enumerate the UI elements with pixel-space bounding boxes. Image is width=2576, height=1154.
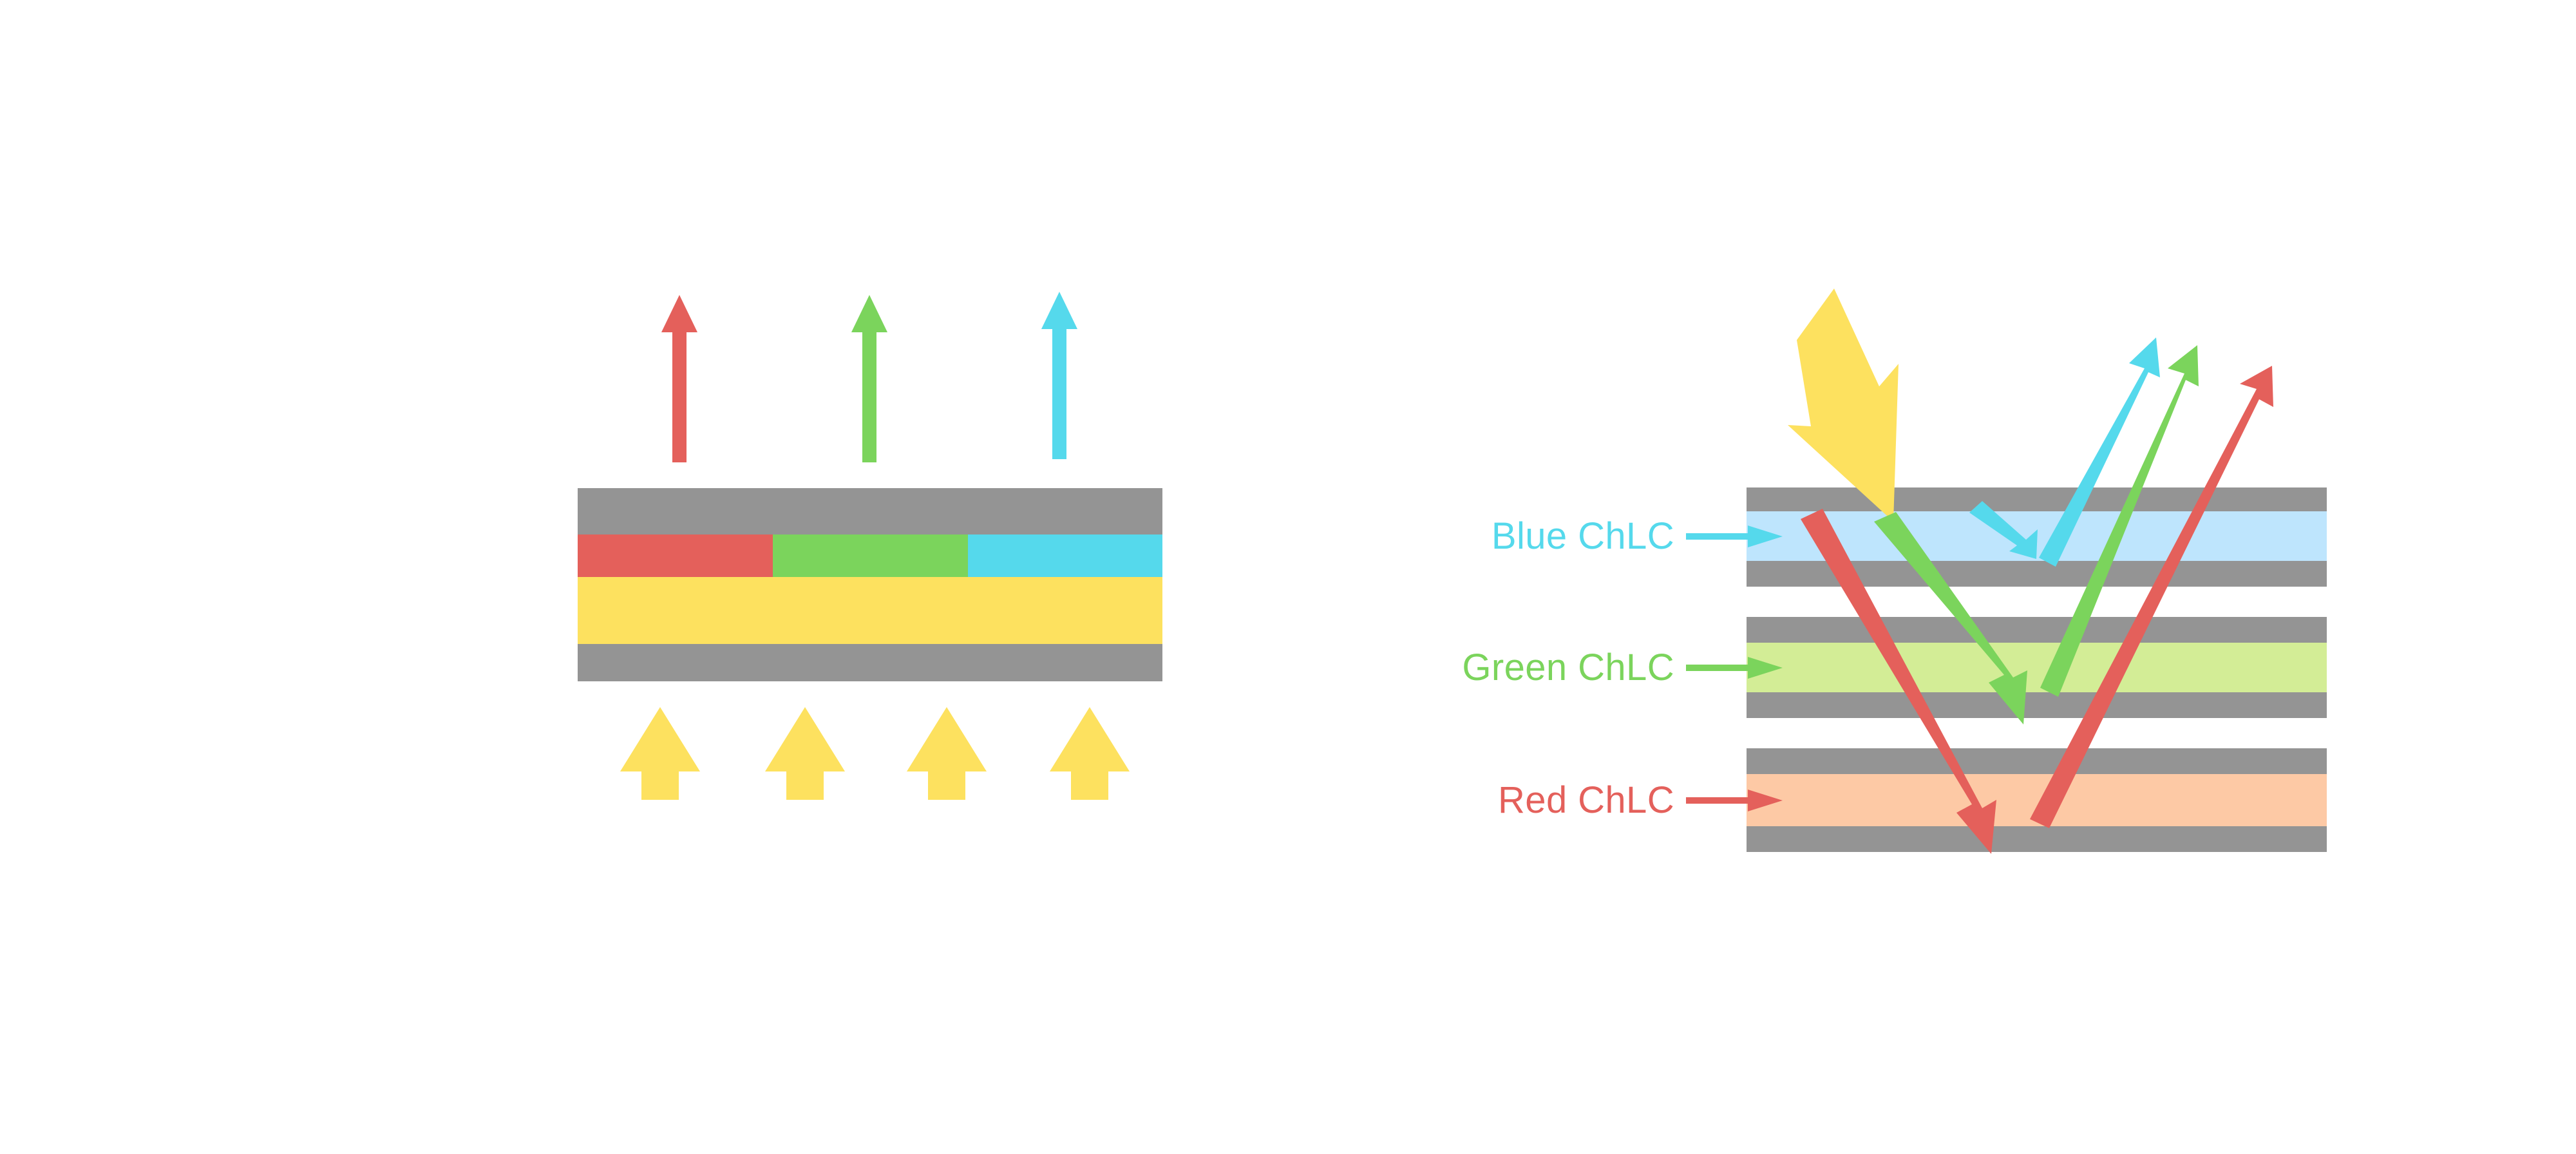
blue-subpixel [968, 534, 1162, 577]
top-electrode [578, 488, 1162, 534]
red-cell-top-electrode [1747, 748, 2327, 774]
red-cell-bottom-electrode [1747, 826, 2327, 852]
reflective-stack-panel: Blue ChLC Green ChLC Red ChLC [1462, 288, 2327, 854]
bottom-electrode [578, 644, 1162, 681]
red-chlc-label-text: Red ChLC [1498, 779, 1674, 821]
blue-chlc-label-text: Blue ChLC [1492, 515, 1674, 557]
green-cell-bottom-electrode [1747, 692, 2327, 718]
emitted-green-arrow [851, 295, 887, 462]
green-subpixel [773, 534, 968, 577]
ambient-light-arrow [1788, 288, 1899, 522]
backlight-arrow-1 [620, 707, 700, 800]
backlight-arrow-3 [907, 707, 987, 800]
red-subpixel [578, 534, 773, 577]
chlc-display-diagram: Blue ChLC Green ChLC Red ChLC [0, 0, 2576, 1154]
red-chlc-cell [1747, 748, 2327, 852]
green-chlc-cell [1747, 617, 2327, 718]
color-filter-row [578, 534, 1162, 577]
emitted-red-arrow [661, 295, 697, 462]
chlc-label-group: Blue ChLC Green ChLC Red ChLC [1462, 515, 1783, 821]
green-chlc-layer [1747, 643, 2327, 692]
blue-cell-top-electrode [1747, 487, 2327, 511]
backlight-arrow-group [620, 707, 1130, 800]
red-chlc-label: Red ChLC [1498, 779, 1783, 821]
blue-chlc-label: Blue ChLC [1492, 515, 1783, 557]
emissive-stack-panel [578, 292, 1162, 800]
backlight-arrow-4 [1050, 707, 1130, 800]
emitted-blue-arrow [1041, 292, 1077, 459]
figure-root: Blue ChLC Green ChLC Red ChLC [0, 0, 2576, 1154]
backlight-arrow-2 [765, 707, 845, 800]
green-cell-top-electrode [1747, 617, 2327, 643]
green-chlc-label: Green ChLC [1462, 647, 1783, 688]
emissive-layer-stack [578, 488, 1162, 681]
emitted-light-arrow-group [661, 292, 1077, 462]
backlight-layer [578, 577, 1162, 644]
green-chlc-label-text: Green ChLC [1462, 647, 1674, 688]
